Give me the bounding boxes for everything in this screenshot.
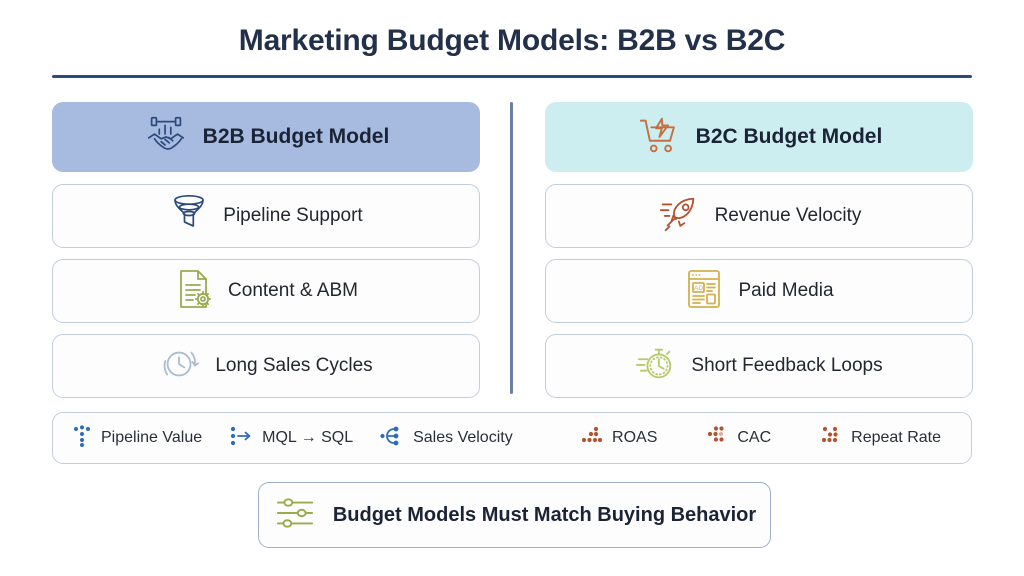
b2c-column: B2C Budget Model Revenue Velocity bbox=[545, 102, 973, 409]
metric-pipeline-value[interactable]: Pipeline Value bbox=[71, 424, 202, 453]
column-divider bbox=[510, 102, 513, 394]
metric-mql-sql[interactable]: MQL → SQL bbox=[228, 424, 353, 453]
card-label-long-sales-cycles: Long Sales Cycles bbox=[215, 355, 372, 377]
stopwatch-icon bbox=[635, 343, 677, 390]
title-divider-rule bbox=[52, 75, 972, 78]
summary-banner-label: Budget Models Must Match Buying Behavior bbox=[333, 504, 756, 527]
card-label-revenue-velocity: Revenue Velocity bbox=[715, 205, 862, 227]
summary-banner[interactable]: Budget Models Must Match Buying Behavior bbox=[258, 482, 771, 548]
dot-matrix-icon bbox=[580, 425, 604, 452]
card-label-paid-media: Paid Media bbox=[738, 280, 833, 302]
metric-label-sales-velocity: Sales Velocity bbox=[413, 429, 513, 447]
b2c-header-card[interactable]: B2C Budget Model bbox=[545, 102, 973, 172]
node-network-icon bbox=[379, 424, 405, 453]
dot-arrow-icon bbox=[228, 424, 254, 453]
dot-matrix-icon bbox=[819, 425, 843, 452]
dot-matrix-icon bbox=[705, 425, 729, 452]
metric-label-pipeline-value: Pipeline Value bbox=[101, 429, 202, 447]
metric-label-cac: CAC bbox=[737, 429, 771, 447]
sliders-icon bbox=[273, 493, 317, 538]
metrics-group-b2b: Pipeline Value MQL → SQL bbox=[53, 424, 513, 453]
funnel-icon bbox=[169, 192, 209, 241]
metric-label-mql-sql: MQL → SQL bbox=[262, 429, 353, 447]
card-short-feedback-loops[interactable]: Short Feedback Loops bbox=[545, 334, 973, 398]
card-long-sales-cycles[interactable]: Long Sales Cycles bbox=[52, 334, 480, 398]
metrics-group-b2c: ROAS CAC bbox=[580, 425, 971, 452]
b2b-column: B2B Budget Model Pipeline Support bbox=[52, 102, 480, 409]
svg-text:AD: AD bbox=[694, 285, 703, 292]
b2c-header-label: B2C Budget Model bbox=[696, 125, 883, 149]
card-revenue-velocity[interactable]: Revenue Velocity bbox=[545, 184, 973, 248]
card-label-content-abm: Content & ABM bbox=[228, 280, 358, 302]
cart-bolt-icon bbox=[636, 112, 682, 163]
b2b-header-card[interactable]: B2B Budget Model bbox=[52, 102, 480, 172]
document-gear-icon bbox=[174, 267, 214, 316]
rocket-icon bbox=[657, 193, 701, 240]
metric-label-repeat-rate: Repeat Rate bbox=[851, 429, 941, 447]
card-pipeline-support[interactable]: Pipeline Support bbox=[52, 184, 480, 248]
metric-label-roas: ROAS bbox=[612, 429, 657, 447]
card-label-short-feedback-loops: Short Feedback Loops bbox=[691, 355, 882, 377]
metric-repeat-rate[interactable]: Repeat Rate bbox=[819, 425, 941, 452]
card-content-abm[interactable]: Content & ABM bbox=[52, 259, 480, 323]
page-title: Marketing Budget Models: B2B vs B2C bbox=[0, 24, 1024, 58]
clock-cycle-icon bbox=[159, 343, 201, 390]
card-paid-media[interactable]: AD Paid Media bbox=[545, 259, 973, 323]
handshake-chart-icon bbox=[143, 112, 189, 163]
infographic-page: Marketing Budget Models: B2B vs B2C B2B … bbox=[0, 0, 1024, 576]
metric-roas[interactable]: ROAS bbox=[580, 425, 657, 452]
metric-sales-velocity[interactable]: Sales Velocity bbox=[379, 424, 513, 453]
dot-cluster-icon bbox=[71, 424, 93, 453]
ad-browser-icon: AD bbox=[684, 267, 724, 316]
metric-cac[interactable]: CAC bbox=[705, 425, 771, 452]
metrics-bar: Pipeline Value MQL → SQL bbox=[52, 412, 972, 464]
card-label-pipeline-support: Pipeline Support bbox=[223, 205, 362, 227]
b2b-header-label: B2B Budget Model bbox=[203, 125, 390, 149]
